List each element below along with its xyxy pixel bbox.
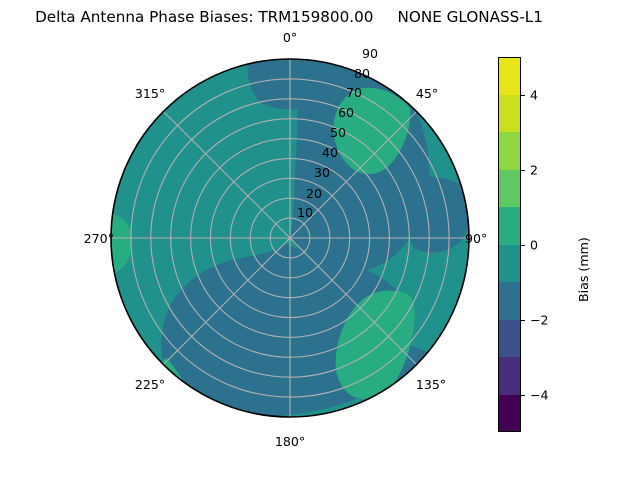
colorbar-tick-mark-2 [521, 170, 525, 171]
colorbar-band-9 [498, 57, 521, 95]
polar-plot-svg [110, 58, 470, 418]
colorbar-tick-label-n4: −4 [530, 387, 549, 402]
polar-axes[interactable] [110, 58, 470, 418]
theta-tick-270: 270° [62, 231, 114, 246]
colorbar-tick-label-n2: −2 [530, 312, 549, 327]
contour-region-upper-right-notch [406, 177, 470, 253]
figure-canvas: Delta Antenna Phase Biases: TRM159800.00… [0, 0, 640, 480]
colorbar-tick-label-0: 0 [530, 237, 538, 252]
r-tick-50: 50 [321, 125, 355, 140]
colorbar-band-3 [498, 282, 521, 320]
polar-grid-spokes [111, 59, 469, 417]
r-tick-30: 30 [305, 165, 339, 180]
r-tick-10: 10 [288, 205, 322, 220]
r-tick-80: 80 [345, 66, 379, 81]
r-tick-20: 20 [297, 186, 331, 201]
r-tick-70: 70 [337, 85, 371, 100]
colorbar-band-7 [498, 132, 521, 170]
colorbar-tick-label-2: 2 [530, 162, 538, 177]
colorbar-band-4 [498, 245, 521, 283]
colorbar-band-5 [498, 207, 521, 245]
theta-tick-0: 0° [266, 30, 314, 45]
colorbar-band-0 [498, 395, 521, 433]
colorbar[interactable] [498, 57, 521, 432]
theta-tick-135: 135° [403, 377, 459, 392]
colorbar-band-1 [498, 357, 521, 395]
theta-tick-90: 90° [465, 231, 499, 246]
colorbar-band-8 [498, 95, 521, 133]
colorbar-axis-label: Bias (mm) [576, 237, 591, 302]
colorbar-tick-label-4: 4 [530, 87, 538, 102]
r-tick-40: 40 [313, 145, 347, 160]
page-title: Delta Antenna Phase Biases: TRM159800.00… [0, 8, 578, 26]
theta-tick-180: 180° [262, 434, 318, 449]
r-tick-60: 60 [329, 105, 363, 120]
colorbar-gradient [498, 57, 521, 432]
colorbar-tick-mark-n4 [521, 395, 525, 396]
colorbar-band-6 [498, 170, 521, 208]
colorbar-tick-mark-4 [521, 95, 525, 96]
colorbar-band-2 [498, 320, 521, 358]
r-tick-90: 90 [353, 46, 387, 61]
theta-tick-315: 315° [122, 86, 178, 101]
theta-tick-45: 45° [403, 86, 451, 101]
theta-tick-225: 225° [122, 377, 178, 392]
colorbar-tick-mark-0 [521, 245, 525, 246]
colorbar-tick-mark-n2 [521, 320, 525, 321]
